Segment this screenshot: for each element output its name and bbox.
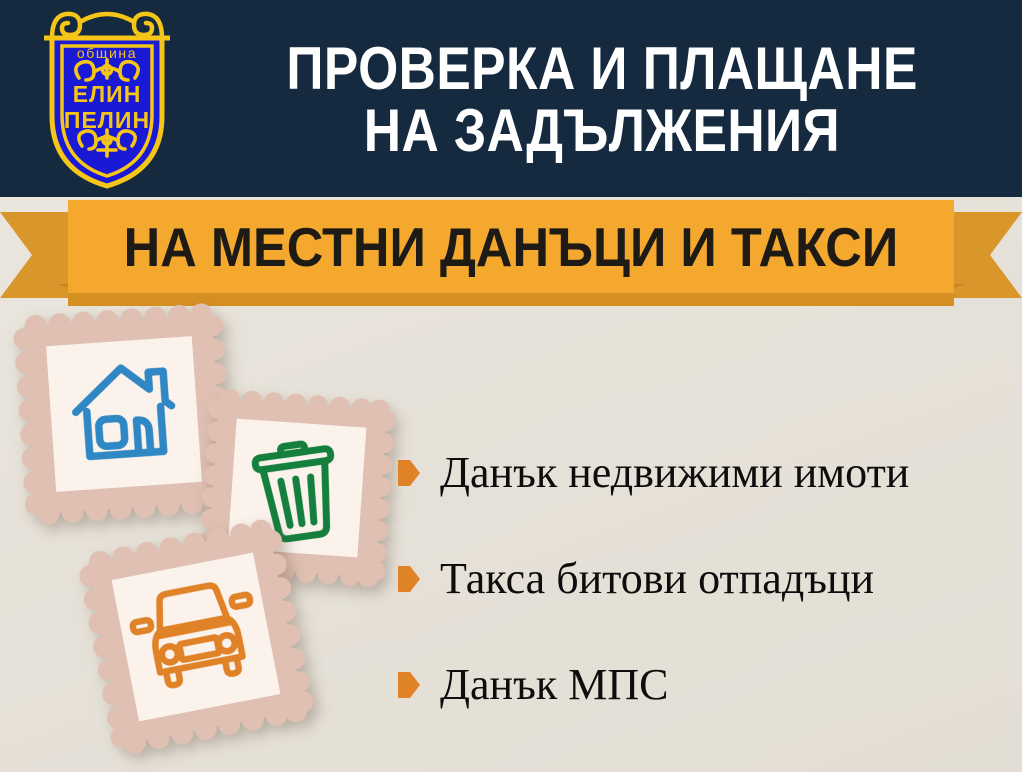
page-title-line-1: ПРОВЕРКА И ПЛАЩАНЕ xyxy=(286,38,917,100)
header-bar: община ЕЛИН ПЕЛИН ПРОВЕРКА И ПЛАЩАНЕ НА … xyxy=(0,0,1022,197)
stamp-paper xyxy=(46,336,202,492)
stamp-paper xyxy=(112,553,281,722)
arrow-bullet-icon xyxy=(398,566,420,592)
stamp-car-svg xyxy=(74,515,318,759)
arrow-bullet-icon xyxy=(398,460,420,486)
crest-label-line2: ПЕЛИН xyxy=(64,107,150,133)
municipality-crest-logo: община ЕЛИН ПЕЛИН xyxy=(22,4,192,192)
crest-label-line1: ЕЛИН xyxy=(73,81,142,107)
ribbon-body: НА МЕСТНИ ДАНЪЦИ И ТАКСИ xyxy=(68,200,954,293)
list-item[interactable]: Такса битови отпадъци xyxy=(398,526,1018,632)
crest-svg: община ЕЛИН ПЕЛИН xyxy=(22,4,192,192)
stamp-car xyxy=(74,515,318,759)
list-item[interactable]: Данък МПС xyxy=(398,632,1018,738)
page-title: ПРОВЕРКА И ПЛАЩАНЕ НА ЗАДЪЛЖЕНИЯ xyxy=(196,14,1008,186)
poster-canvas: община ЕЛИН ПЕЛИН ПРОВЕРКА И ПЛАЩАНЕ НА … xyxy=(0,0,1022,772)
ribbon-text: НА МЕСТНИ ДАНЪЦИ И ТАКСИ xyxy=(124,215,899,279)
list-item-label: Данък МПС xyxy=(440,663,668,707)
list-item[interactable]: Данък недвижими имоти xyxy=(398,420,1018,526)
tax-types-list: Данък недвижими имоти Такса битови отпад… xyxy=(398,420,1018,738)
subtitle-ribbon: НА МЕСТНИ ДАНЪЦИ И ТАКСИ xyxy=(0,198,1022,310)
crest-label-top: община xyxy=(77,45,137,61)
page-title-line-2: НА ЗАДЪЛЖЕНИЯ xyxy=(364,100,840,162)
list-item-label: Такса битови отпадъци xyxy=(440,557,874,601)
list-item-label: Данък недвижими имоти xyxy=(440,451,909,495)
arrow-bullet-icon xyxy=(398,672,420,698)
